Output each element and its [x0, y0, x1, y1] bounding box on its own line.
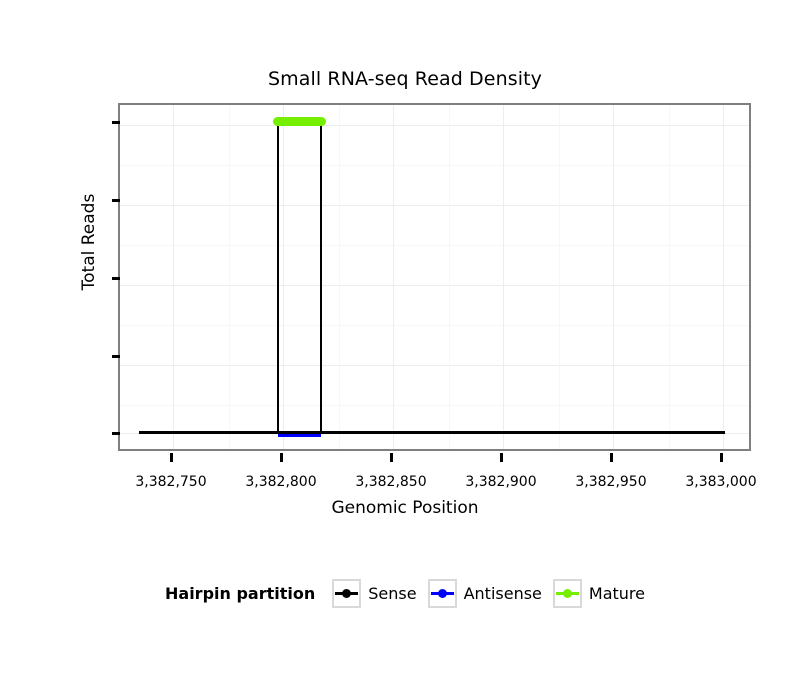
x-tick-label: 3,382,850 — [331, 474, 451, 490]
legend-point-glyph — [438, 589, 447, 598]
y-axis-title: Total Reads — [79, 142, 99, 342]
x-tick-label: 3,382,800 — [221, 474, 341, 490]
chart-title: Small RNA-seq Read Density — [0, 68, 810, 90]
gridline-x-minor — [339, 105, 340, 449]
gridline-x-major — [723, 105, 724, 449]
gridline-x-major — [393, 105, 394, 449]
gridline-x-major — [503, 105, 504, 449]
y-tick-mark — [112, 121, 120, 124]
plot-panel: 2.0 1.5 1.0 0.5 0.0 — [118, 103, 751, 451]
x-tick-mark — [500, 453, 503, 462]
gridline-y-minor — [120, 165, 749, 166]
y-tick-mark — [112, 355, 120, 358]
x-tick-mark — [720, 453, 723, 462]
y-tick-mark — [112, 199, 120, 202]
legend-label-mature: Mature — [589, 584, 645, 603]
legend-label-antisense: Antisense — [464, 584, 542, 603]
chart-figure: Small RNA-seq Read Density Total Reads — [0, 0, 810, 690]
gridline-y-major — [120, 285, 749, 286]
x-axis-title: Genomic Position — [0, 498, 810, 518]
series-sense-riser-right — [320, 121, 322, 433]
x-tick-mark — [280, 453, 283, 462]
series-mature-line — [273, 117, 326, 126]
legend-entry-sense[interactable]: Sense — [332, 579, 416, 608]
y-tick-mark — [112, 277, 120, 280]
legend-entry-mature[interactable]: Mature — [553, 579, 645, 608]
x-tick-mark — [610, 453, 613, 462]
legend-point-glyph — [563, 589, 572, 598]
series-antisense-line — [278, 434, 321, 437]
legend-key-mature-icon — [553, 579, 582, 608]
x-tick-label: 3,382,950 — [551, 474, 671, 490]
gridline-y-minor — [120, 405, 749, 406]
gridline-y-major — [120, 205, 749, 206]
gridline-y-major — [120, 125, 749, 126]
x-tick-label: 3,383,000 — [661, 474, 781, 490]
gridline-x-major — [283, 105, 284, 449]
gridline-y-minor — [120, 325, 749, 326]
plot-area — [120, 105, 749, 449]
x-tick-label: 3,382,750 — [111, 474, 231, 490]
gridline-x-minor — [449, 105, 450, 449]
x-tick-mark — [390, 453, 393, 462]
series-sense-baseline — [139, 431, 725, 434]
legend-key-antisense-icon — [428, 579, 457, 608]
gridline-x-major — [173, 105, 174, 449]
gridline-y-minor — [120, 245, 749, 246]
legend-label-sense: Sense — [368, 584, 416, 603]
chart-legend: Hairpin partition Sense Antisense Mature — [0, 579, 810, 608]
x-tick-label: 3,382,900 — [441, 474, 561, 490]
gridline-x-minor — [669, 105, 670, 449]
legend-key-sense-icon — [332, 579, 361, 608]
legend-title: Hairpin partition — [165, 584, 315, 603]
gridline-x-minor — [229, 105, 230, 449]
x-tick-mark — [170, 453, 173, 462]
legend-entry-antisense[interactable]: Antisense — [428, 579, 542, 608]
gridline-y-major — [120, 365, 749, 366]
gridline-x-major — [613, 105, 614, 449]
gridline-x-minor — [559, 105, 560, 449]
series-sense-riser-left — [277, 121, 279, 433]
y-tick-mark — [112, 432, 120, 435]
legend-point-glyph — [342, 589, 351, 598]
